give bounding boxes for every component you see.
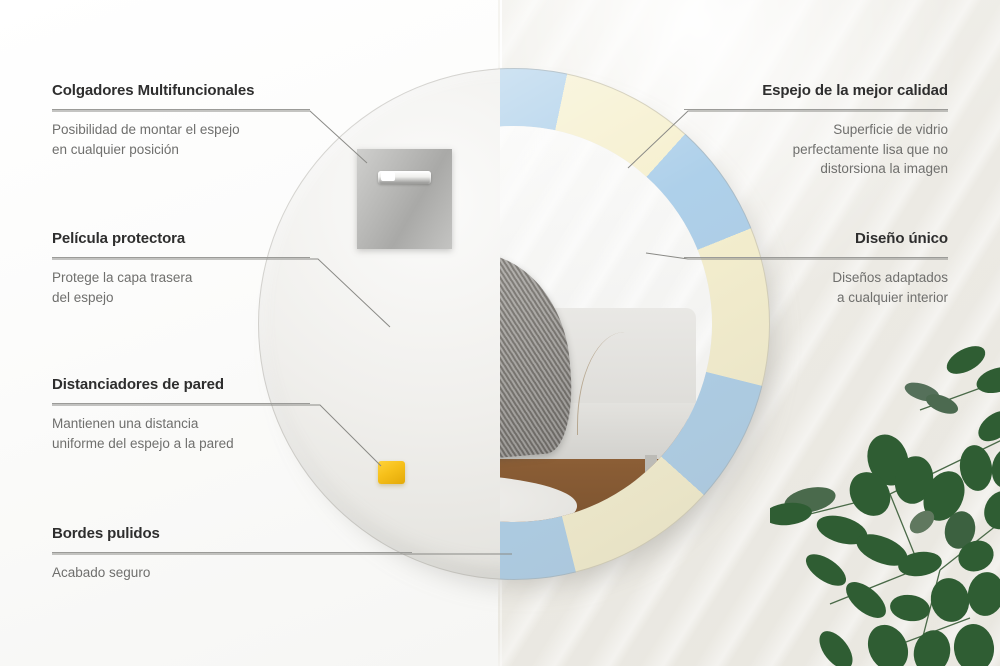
callout-unique-design: Diseño único Diseños adaptados a cualqui…: [684, 230, 948, 307]
callout-body: Protege la capa trasera del espejo: [52, 268, 310, 307]
callout-rule: [52, 552, 412, 553]
callout-title: Película protectora: [52, 230, 310, 248]
callout-rule: [52, 403, 310, 404]
callout-title: Distanciadores de pared: [52, 376, 310, 394]
callout-body: Superficie de vidrio perfectamente lisa …: [684, 120, 948, 179]
callout-protective-film: Película protectora Protege la capa tras…: [52, 230, 310, 307]
callout-body: Mantienen una distancia uniforme del esp…: [52, 414, 310, 453]
callout-rule: [52, 109, 310, 110]
callout-mirror-quality: Espejo de la mejor calidad Superficie de…: [684, 82, 948, 179]
foliage-decoration: [770, 318, 1000, 666]
callout-polished-edges: Bordes pulidos Acabado seguro: [52, 525, 412, 583]
callout-rule: [684, 109, 948, 110]
callout-body: Posibilidad de montar el espejo en cualq…: [52, 120, 310, 159]
callout-title: Colgadores Multifuncionales: [52, 82, 310, 100]
callout-title: Diseño único: [684, 230, 948, 248]
callout-wall-spacers: Distanciadores de pared Mantienen una di…: [52, 376, 310, 453]
callout-title: Bordes pulidos: [52, 525, 412, 543]
callout-title: Espejo de la mejor calidad: [684, 82, 948, 100]
callout-body: Diseños adaptados a cualquier interior: [684, 268, 948, 307]
callout-hangers: Colgadores Multifuncionales Posibilidad …: [52, 82, 310, 159]
callout-body: Acabado seguro: [52, 563, 412, 583]
callout-rule: [684, 257, 948, 258]
product-infographic: Colgadores Multifuncionales Posibilidad …: [0, 0, 1000, 666]
callout-rule: [52, 257, 310, 258]
